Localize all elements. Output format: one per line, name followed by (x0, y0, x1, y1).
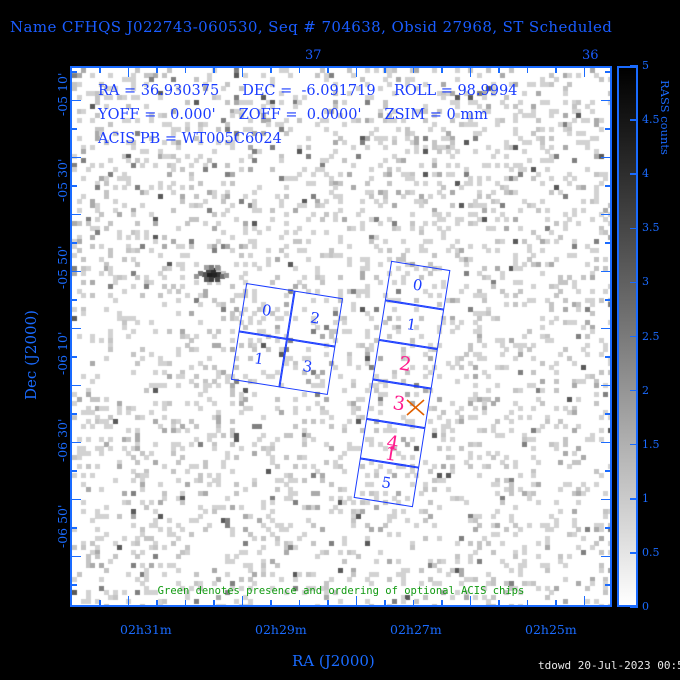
tick-mark (72, 385, 81, 387)
tick-mark (555, 600, 557, 605)
tick-mark (72, 413, 77, 415)
tick-mark (601, 442, 610, 444)
tick-mark (213, 68, 215, 73)
colorbar-title: RASS counts (658, 80, 672, 155)
tick-mark (270, 600, 272, 605)
tick-mark (470, 68, 472, 77)
tick-mark (128, 596, 130, 605)
x-tick-label: 02h25m (525, 622, 577, 637)
tick-mark (72, 356, 77, 358)
colorbar-tick-label: 3.5 (642, 221, 660, 234)
tick-mark (185, 68, 187, 73)
top-axis-label-36: 36 (582, 48, 599, 63)
chip-label: 2 (309, 310, 321, 326)
page-title: Name CFHQS J022743-060530, Seq # 704638,… (10, 18, 612, 36)
tick-mark (242, 596, 244, 605)
tick-mark (72, 71, 77, 73)
colorbar-tick (630, 390, 638, 392)
colorbar-tick-label: 0 (642, 600, 649, 613)
tick-mark (72, 214, 81, 216)
tick-mark (72, 556, 81, 558)
tick-mark (605, 470, 610, 472)
tick-mark (72, 271, 81, 273)
tick-mark (601, 157, 610, 159)
tick-mark (72, 499, 81, 501)
tick-mark (601, 100, 610, 102)
tick-mark (72, 242, 77, 244)
tick-mark (555, 68, 557, 73)
tick-mark (601, 271, 610, 273)
tick-mark (605, 584, 610, 586)
chip-label: 5 (380, 475, 392, 491)
rass-background-image (72, 68, 610, 605)
tick-mark (327, 600, 329, 605)
tick-mark (498, 68, 500, 73)
param-line-acis-pb: ACIS PB = WT005C6024 (98, 131, 282, 147)
tick-mark (99, 600, 101, 605)
tick-mark (356, 68, 358, 77)
green-legend-note: Green denotes presence and ordering of o… (158, 585, 525, 597)
tick-mark (185, 600, 187, 605)
acis-i-chip-3[interactable]: 3 (279, 339, 335, 395)
tick-mark (384, 68, 386, 73)
tick-mark (605, 413, 610, 415)
x-tick-label: 02h29m (255, 622, 307, 637)
chip-label: 0 (412, 277, 424, 293)
colorbar-tick-label: 1 (642, 492, 649, 505)
tick-mark (299, 68, 301, 73)
tick-mark (242, 68, 244, 77)
chip-label: 3 (301, 359, 313, 375)
tick-mark (270, 68, 272, 73)
footer-timestamp: tdowd 20-Jul-2023 00:50 (538, 659, 680, 672)
tick-mark (356, 596, 358, 605)
tick-mark (327, 68, 329, 73)
tick-mark (72, 100, 81, 102)
tick-mark (498, 600, 500, 605)
chip-label: 1 (405, 317, 417, 333)
tick-mark (384, 600, 386, 605)
colorbar-tick-label: 1.5 (642, 438, 660, 451)
tick-mark (441, 600, 443, 605)
tick-mark (156, 600, 158, 605)
tick-mark (72, 157, 81, 159)
tick-mark (601, 499, 610, 501)
sky-image-plot[interactable]: RA = 36.930375 DEC = -6.091719 ROLL = 98… (70, 66, 612, 607)
y-tick-label: -05 30' (55, 159, 70, 202)
tick-mark (72, 584, 77, 586)
tick-mark (605, 71, 610, 73)
colorbar-tick-label: 2.5 (642, 330, 660, 343)
acis-i-chip-0[interactable]: 0 (239, 283, 295, 339)
tick-mark (601, 556, 610, 558)
colorbar-tick-label: 2 (642, 384, 649, 397)
tick-mark (72, 527, 77, 529)
tick-mark (605, 185, 610, 187)
screenshot-root: Name CFHQS J022743-060530, Seq # 704638,… (0, 0, 680, 680)
tick-mark (527, 68, 529, 73)
tick-mark (605, 356, 610, 358)
colorbar-tick (630, 498, 638, 500)
y-tick-label: -05 50' (55, 246, 70, 289)
x-tick-label: 02h27m (390, 622, 442, 637)
acis-i-chip-1[interactable]: 1 (231, 331, 287, 387)
colorbar-tick (630, 119, 638, 121)
acis-i-array[interactable]: 0 2 1 3 (231, 283, 343, 395)
tick-mark (156, 68, 158, 73)
tick-mark (72, 328, 81, 330)
y-axis-title: Dec (J2000) (22, 310, 40, 400)
param-line-pointing: RA = 36.930375 DEC = -6.091719 ROLL = 98… (98, 83, 517, 99)
colorbar-tick (630, 282, 638, 284)
tick-mark (601, 328, 610, 330)
tick-mark (99, 68, 101, 73)
chip-label: 0 (261, 303, 273, 319)
colorbar-tick-label: 4.5 (642, 113, 660, 126)
tick-mark (605, 128, 610, 130)
tick-mark (470, 596, 472, 605)
tick-mark (299, 600, 301, 605)
tick-mark (441, 68, 443, 73)
colorbar-tick-label: 4 (642, 167, 649, 180)
colorbar-tick (630, 606, 638, 608)
y-tick-label: -05 10' (55, 73, 70, 116)
top-axis-label-37: 37 (305, 48, 322, 63)
tick-mark (527, 600, 529, 605)
y-tick-label: -06 50' (55, 505, 70, 548)
colorbar-tick (630, 65, 638, 67)
tick-mark (584, 68, 586, 77)
colorbar-tick-label: 3 (642, 275, 649, 288)
tick-mark (128, 68, 130, 77)
x-tick-label: 02h31m (120, 622, 172, 637)
y-tick-label: -06 30' (55, 419, 70, 462)
acis-i-chip-2[interactable]: 2 (287, 291, 343, 347)
colorbar-tick-label: 5 (642, 59, 649, 72)
tick-mark (72, 470, 77, 472)
tick-mark (601, 385, 610, 387)
chip-label: 2 (398, 354, 413, 375)
tick-mark (413, 600, 415, 605)
x-axis-title: RA (J2000) (292, 652, 375, 670)
tick-mark (72, 442, 81, 444)
tick-mark (72, 185, 77, 187)
colorbar-tick (630, 552, 638, 554)
tick-mark (601, 214, 610, 216)
y-tick-label: -06 10' (55, 332, 70, 375)
tick-mark (605, 242, 610, 244)
colorbar-tick-label: 0.5 (642, 546, 660, 559)
colorbar-tick (630, 336, 638, 338)
chip-label: 1 (253, 351, 265, 367)
tick-mark (605, 299, 610, 301)
tick-mark (72, 128, 77, 130)
tick-mark (72, 299, 77, 301)
colorbar-tick (630, 444, 638, 446)
aimpoint-marker-icon (405, 397, 427, 419)
param-line-offsets: YOFF = 0.000' ZOFF = 0.0000' ZSIM = 0 mm (98, 107, 488, 123)
colorbar-tick (630, 228, 638, 230)
tick-mark (605, 527, 610, 529)
tick-mark (584, 596, 586, 605)
tick-mark (413, 68, 415, 73)
tick-mark (213, 600, 215, 605)
colorbar-tick (630, 173, 638, 175)
